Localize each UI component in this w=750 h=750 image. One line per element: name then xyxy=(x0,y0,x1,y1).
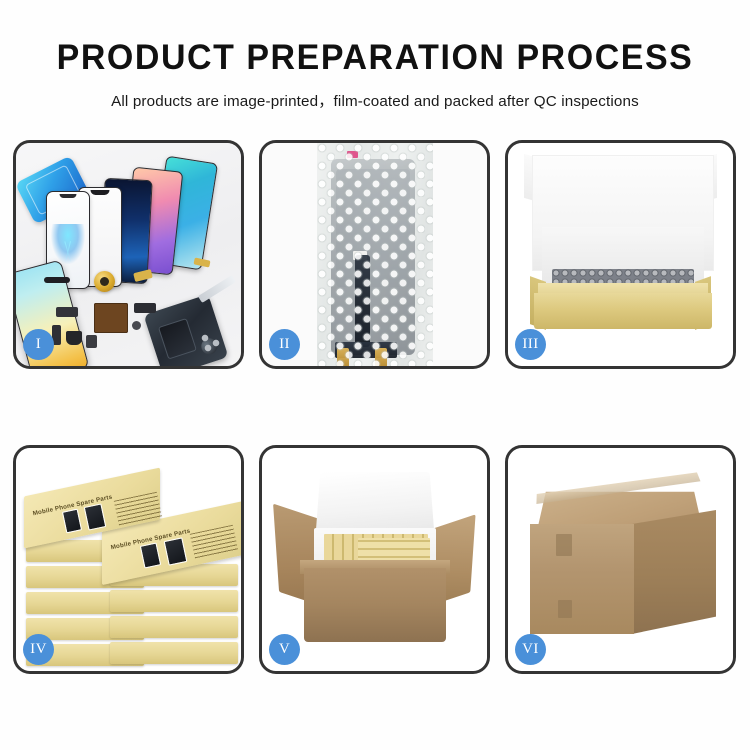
step-6-photo xyxy=(508,448,733,671)
stacked-box xyxy=(110,590,238,612)
step-panel-6: VI xyxy=(505,445,736,674)
page-title: PRODUCT PREPARATION PROCESS xyxy=(11,38,739,78)
glass-cover-notch xyxy=(60,194,77,198)
small-part xyxy=(66,331,82,345)
small-part xyxy=(44,277,70,283)
carton-front-face xyxy=(530,524,634,634)
chip-grid-part xyxy=(94,303,128,333)
process-steps-grid: I II xyxy=(13,140,737,680)
step-2-photo xyxy=(262,143,487,366)
wallpaper-graphic xyxy=(51,224,85,264)
small-part xyxy=(134,303,156,313)
bubble-texture xyxy=(317,143,433,366)
page-subtitle: All products are image-printed，film-coat… xyxy=(0,89,750,111)
step-1-photo xyxy=(16,143,241,366)
step-panel-2: II xyxy=(259,140,490,369)
step-panel-5: V xyxy=(259,445,490,674)
step-badge-1: I xyxy=(23,329,54,360)
battery-cell xyxy=(158,318,197,360)
step-badge-5: V xyxy=(269,634,300,665)
phone-backplate-part xyxy=(143,294,228,366)
step-5-photo xyxy=(262,448,487,671)
step-panel-3: III xyxy=(505,140,736,369)
stacked-box xyxy=(110,616,238,638)
carton-side-face xyxy=(632,510,716,634)
step-badge-4: IV xyxy=(23,634,54,665)
tray-front-face xyxy=(534,293,712,329)
screws xyxy=(201,334,227,352)
tweezer-tool xyxy=(198,275,236,303)
coil-part xyxy=(94,271,115,292)
phone-notch xyxy=(91,190,110,195)
step-badge-2: II xyxy=(269,329,300,360)
product-preparation-infographic: PRODUCT PREPARATION PROCESS All products… xyxy=(0,0,750,750)
carton-tab xyxy=(556,534,572,556)
step-badge-6: VI xyxy=(515,634,546,665)
step-panel-1: I xyxy=(13,140,244,369)
bubble-wrap-bag xyxy=(317,143,433,366)
carton-front-face xyxy=(304,568,446,642)
carton-tab xyxy=(558,600,572,618)
step-3-photo xyxy=(508,143,733,366)
small-part xyxy=(86,335,97,348)
step-badge-3: III xyxy=(515,329,546,360)
header: PRODUCT PREPARATION PROCESS All products… xyxy=(0,0,750,111)
step-panel-4: Mobile Phone Spare Parts Mobile Phone Sp… xyxy=(13,445,244,674)
small-part xyxy=(132,321,141,330)
step-4-photo: Mobile Phone Spare Parts Mobile Phone Sp… xyxy=(16,448,241,671)
small-part xyxy=(56,307,78,317)
box-stack: Mobile Phone Spare Parts Mobile Phone Sp… xyxy=(24,466,238,666)
stacked-box xyxy=(110,642,238,664)
